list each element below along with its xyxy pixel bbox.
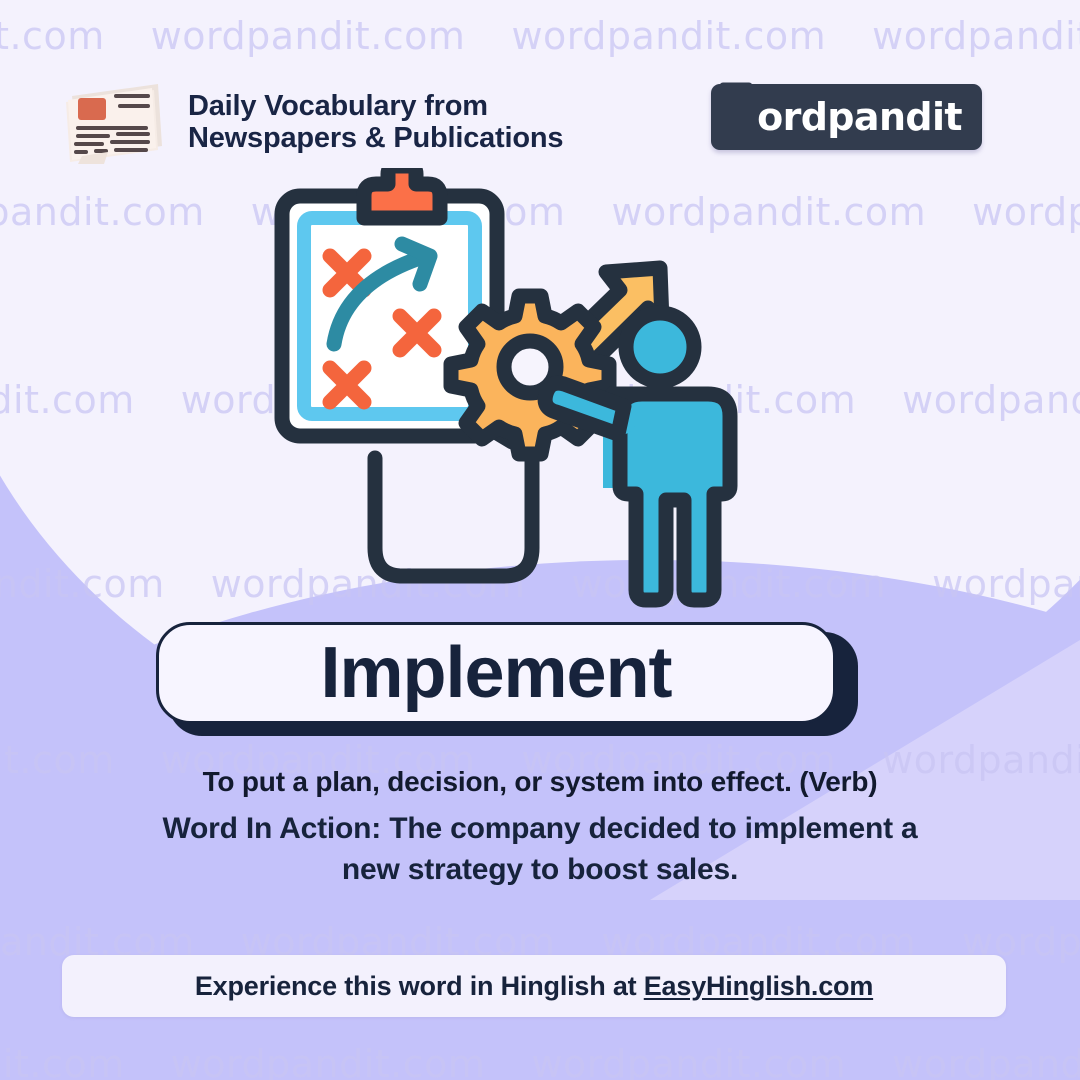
clipboard-clip-icon	[364, 168, 440, 218]
wordpandit-logo[interactable]: ordpandit	[711, 84, 982, 150]
footer-text: Experience this word in Hinglish at Easy…	[195, 971, 873, 1002]
clipboard-icon	[282, 196, 497, 436]
vocabulary-word: Implement	[320, 637, 671, 709]
easel-stand	[375, 458, 532, 576]
word-pill-wrapper: Implement	[156, 622, 846, 728]
newspaper-icon	[58, 72, 170, 164]
bookmark-w-icon	[719, 82, 753, 150]
word-pill: Implement	[156, 622, 836, 724]
page-title: Daily Vocabulary from Newspapers & Publi…	[188, 90, 563, 155]
word-usage: Word In Action: The company decided to i…	[40, 808, 1040, 891]
easyhinglish-link[interactable]: EasyHinglish.com	[644, 971, 873, 1001]
word-usage-line1: Word In Action: The company decided to i…	[40, 808, 1040, 849]
footer-banner[interactable]: Experience this word in Hinglish at Easy…	[62, 955, 1006, 1017]
poster-canvas: wordpandit.comwordpandit.comwordpandit.c…	[0, 0, 1080, 1080]
footer-prefix: Experience this word in Hinglish at	[195, 971, 644, 1001]
header: Daily Vocabulary from Newspapers & Publi…	[0, 0, 1080, 175]
word-usage-line2: new strategy to boost sales.	[40, 849, 1040, 890]
header-title-line2: Newspapers & Publications	[188, 122, 563, 154]
strategy-implementation-illustration	[272, 168, 772, 618]
logo-text: ordpandit	[757, 95, 962, 139]
word-definition: To put a plan, decision, or system into …	[40, 762, 1040, 802]
header-title-line1: Daily Vocabulary from	[188, 90, 563, 122]
